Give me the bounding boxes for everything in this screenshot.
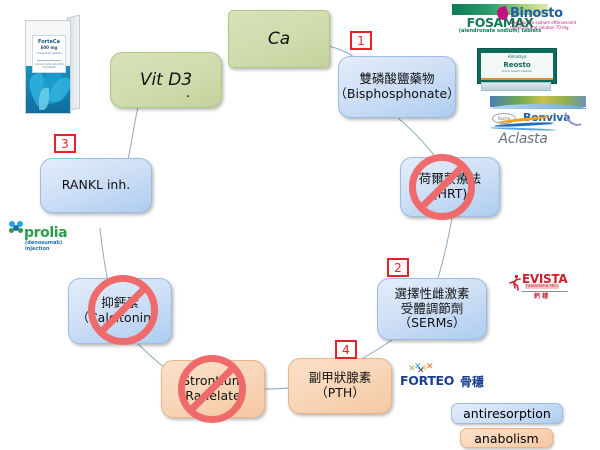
badge-3: 3 bbox=[54, 134, 76, 153]
node-vit-d3[interactable]: Vit D3 bbox=[110, 52, 222, 108]
prolia-wordmark: prolia bbox=[24, 225, 67, 241]
aclasta-wordmark: Aclasta bbox=[480, 131, 566, 147]
binosto-line2: tablet for oral solution 70 mg bbox=[510, 25, 569, 30]
bonviva-wave bbox=[490, 104, 586, 109]
node-bisphosphonate[interactable]: 雙磷酸鹽藥物 （Bisphosphonate） bbox=[338, 56, 456, 118]
node-vit-d3-label: Vit D3 bbox=[140, 70, 192, 90]
badge-2-number: 2 bbox=[394, 261, 402, 275]
node-pth[interactable]: 副甲狀腺素 （PTH） bbox=[288, 358, 392, 414]
legend-antiresorption: antiresorption bbox=[451, 403, 563, 424]
node-calcitonin-label: 抑鈣素 （Calcitonin） bbox=[76, 296, 163, 326]
prolia-flower-icon bbox=[8, 220, 25, 237]
evista-cjk-name: 鈣 穩 bbox=[534, 291, 548, 300]
product-aclasta-logo: Aclasta bbox=[480, 118, 566, 150]
reosto-wordmark: Reosto bbox=[481, 61, 553, 69]
node-calcitonin[interactable]: 抑鈣素 （Calcitonin） bbox=[68, 278, 172, 344]
forteca-label-panel: ForteCa 600 mg chewable tablets calcium … bbox=[32, 35, 66, 73]
forteca-blue-panel bbox=[26, 66, 70, 113]
evista-subtitle: raloxifene HCl bbox=[525, 284, 559, 289]
product-forteo-logo: ✕ ✕ ✕ ✕ ✕ FORTEO 骨穩 bbox=[400, 364, 506, 390]
legend-anabolism-label: anabolism bbox=[474, 431, 538, 446]
node-rankl-inhibitor-label: RANKL inh. bbox=[62, 178, 131, 193]
evista-runner-icon bbox=[508, 274, 522, 291]
binosto-droplet-icon bbox=[495, 6, 509, 22]
badge-1-number: 1 bbox=[357, 34, 365, 48]
bonviva-swirl-icon bbox=[564, 110, 581, 129]
node-hrt[interactable]: 荷爾蒙療法 (HRT) bbox=[400, 157, 500, 217]
product-evista-logo: EVISTA raloxifene HCl 鈣 穩 bbox=[508, 272, 586, 300]
reosto-label-panel: Himalaya Reosto bone health tablets bbox=[481, 53, 553, 78]
forteca-strength: 600 mg bbox=[33, 45, 65, 50]
node-ca-label: Ca bbox=[268, 29, 290, 49]
node-bisphosphonate-label: 雙磷酸鹽藥物 （Bisphosphonate） bbox=[334, 72, 459, 102]
reosto-tagline: bone health tablets bbox=[481, 69, 553, 73]
forteca-form: chewable tablets bbox=[33, 51, 65, 55]
badge-4: 4 bbox=[335, 340, 357, 359]
legend-anabolism: anabolism bbox=[460, 428, 553, 448]
forteo-cjk-name: 骨穩 bbox=[460, 373, 484, 390]
product-reosto-image: Himalaya Reosto bone health tablets bbox=[477, 48, 555, 92]
product-prolia-logo: prolia (denosumab) injection bbox=[8, 220, 80, 248]
product-binosto-logo: Binosto alendronate sodium effervescent … bbox=[497, 6, 597, 34]
badge-4-number: 4 bbox=[342, 343, 350, 357]
node-strontium-ranelate[interactable]: Strontium Ranelate bbox=[161, 360, 265, 418]
badge-3-number: 3 bbox=[61, 137, 69, 151]
binosto-wordmark: Binosto bbox=[510, 6, 563, 21]
diagram-canvas: Ca Vit D3 . 雙磷酸鹽藥物 （Bisphosphonate） 荷爾蒙療… bbox=[0, 0, 600, 450]
link-pth-strontium bbox=[262, 388, 288, 389]
link-hrt-serms bbox=[438, 218, 452, 278]
node-hrt-label: 荷爾蒙療法 (HRT) bbox=[419, 172, 482, 202]
badge-2: 2 bbox=[387, 258, 409, 277]
node-pth-label: 副甲狀腺素 （PTH） bbox=[309, 371, 372, 401]
badge-1: 1 bbox=[350, 31, 372, 50]
node-rankl-inhibitor[interactable]: RANKL inh. bbox=[40, 158, 152, 213]
forteca-tagline: calcium carbonate 600 mg tablets bbox=[33, 63, 65, 69]
link-bisphos-hrt bbox=[398, 118, 438, 160]
legend-antiresorption-label: antiresorption bbox=[463, 406, 551, 421]
reosto-accent-bar bbox=[481, 78, 553, 80]
reosto-box: Himalaya Reosto bone health tablets bbox=[477, 48, 557, 84]
node-strontium-ranelate-label: Strontium Ranelate bbox=[182, 374, 244, 404]
vit-d3-dot: . bbox=[186, 86, 190, 101]
link-calcitonin-rankl bbox=[100, 228, 108, 282]
node-ca[interactable]: Ca bbox=[228, 10, 330, 68]
node-serms[interactable]: 選擇性雌激素 受體調節劑 （SERMs） bbox=[377, 278, 487, 340]
node-serms-label: 選擇性雌激素 受體調節劑 （SERMs） bbox=[394, 287, 469, 331]
link-vitd3-rankl bbox=[128, 107, 138, 160]
reosto-brand: Himalaya bbox=[481, 54, 553, 59]
reosto-blister-strip bbox=[481, 82, 551, 91]
prolia-subtitle: (denosumab) injection bbox=[25, 240, 80, 252]
forteo-wordmark: FORTEO bbox=[400, 373, 454, 388]
forteca-box-face: ForteCa 600 mg chewable tablets calcium … bbox=[25, 20, 71, 114]
product-forteca-image: ForteCa 600 mg chewable tablets calcium … bbox=[22, 12, 82, 114]
